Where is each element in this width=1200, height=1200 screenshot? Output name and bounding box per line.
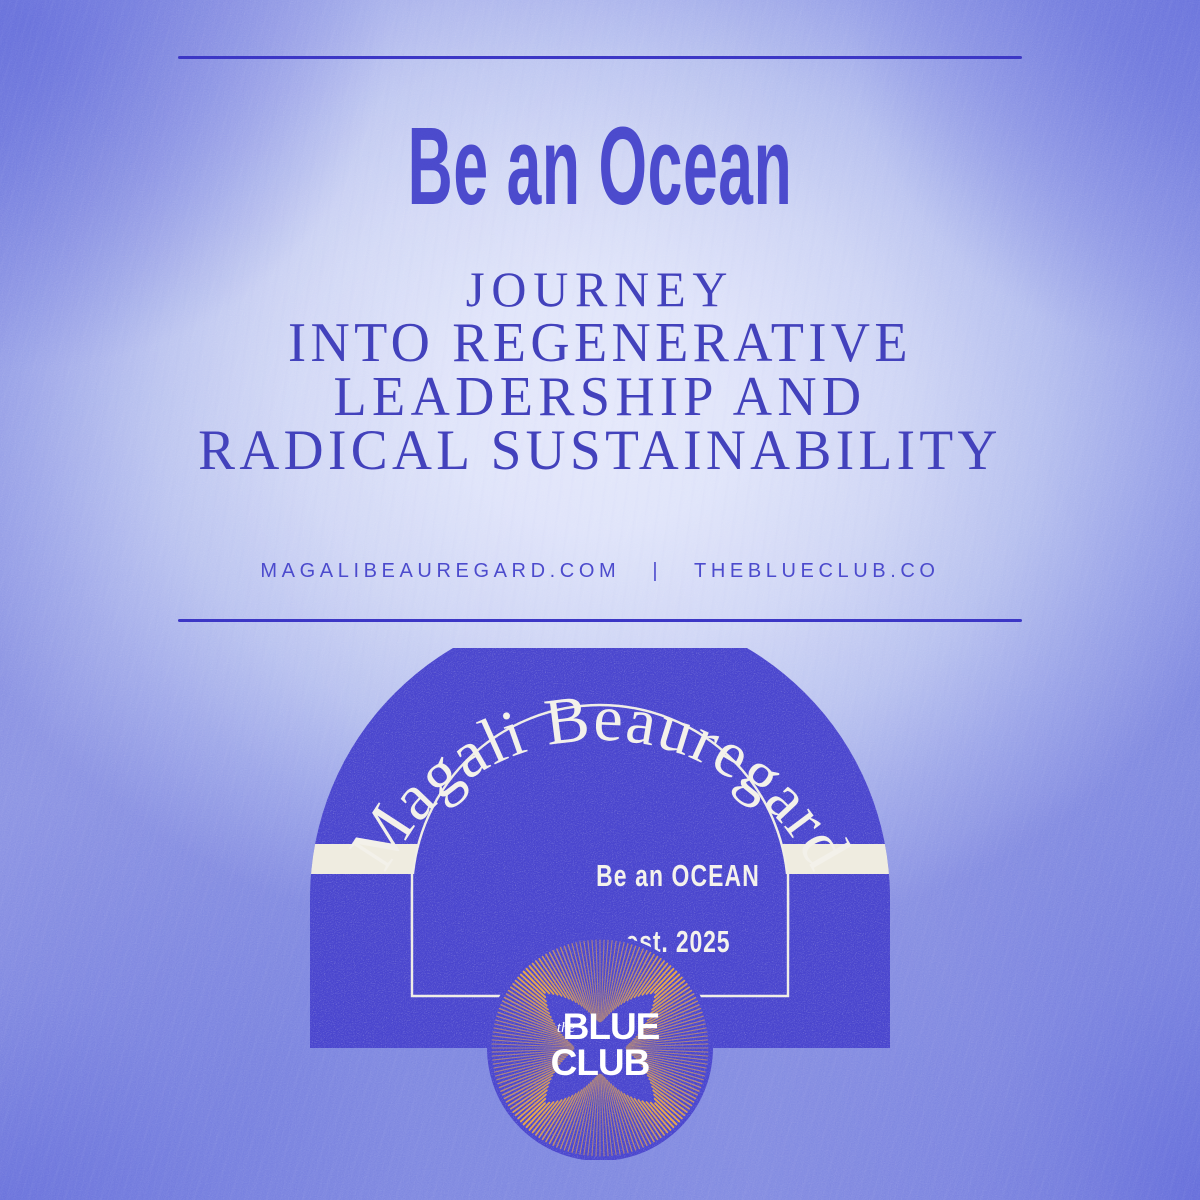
brand-logo: Magali Beauregard Be an OCEAN est. 2025 … — [300, 648, 900, 1160]
subtitle-block: JOURNEY INTO REGENERATIVE LEADERSHIP AND… — [0, 262, 1200, 478]
page-title-text: Be an Ocean — [408, 106, 793, 229]
link-separator: | — [630, 560, 684, 583]
medallion-line-1: BLUE — [563, 1006, 660, 1047]
link-secondary-site[interactable]: THEBLUECLUB.CO — [694, 560, 940, 582]
logo-tagline: Be an OCEAN — [596, 858, 760, 893]
website-links: MAGALIBEAUREGARD.COM | THEBLUECLUB.CO — [0, 560, 1200, 583]
medallion-line-2: CLUB — [551, 1042, 650, 1083]
subtitle-line-4: RADICAL SUSTAINABILITY — [18, 424, 1182, 478]
page-title: Be an Ocean — [240, 112, 960, 222]
poster-canvas: Be an Ocean JOURNEY INTO REGENERATIVE LE… — [0, 0, 1200, 1200]
subtitle-line-2: INTO REGENERATIVE — [18, 316, 1182, 370]
link-primary-site[interactable]: MAGALIBEAUREGARD.COM — [260, 560, 620, 582]
divider-bottom — [178, 619, 1022, 622]
divider-top — [178, 56, 1022, 59]
subtitle-line-3: LEADERSHIP AND — [18, 370, 1182, 424]
subtitle-line-1: JOURNEY — [18, 262, 1182, 316]
